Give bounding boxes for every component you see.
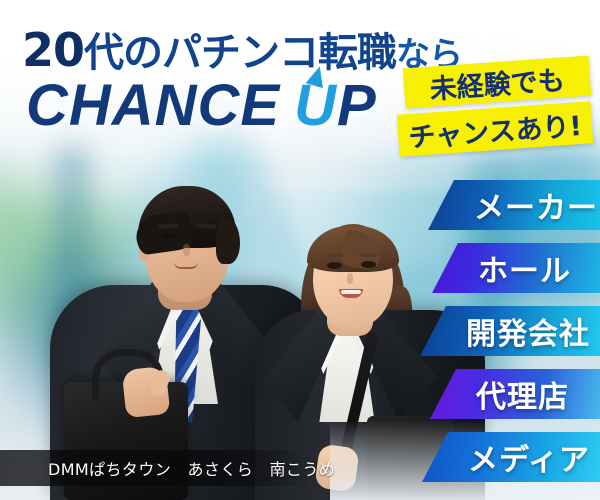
category-button-developer[interactable]: 開発会社 [420, 306, 600, 356]
category-label: メディア [468, 435, 590, 479]
category-label: 代理店 [476, 372, 569, 416]
category-label: ホール [478, 246, 571, 290]
category-label: メーカー [474, 183, 598, 227]
ad-banner: 20代のパチンコ転職なら CHANCEUP 未経験でも チャンスあり! メーカー… [0, 0, 600, 500]
credit-bar: DMMぱちタウン あさくら 南こうめ [0, 450, 312, 486]
category-button-media[interactable]: メディア [422, 432, 600, 482]
category-label: 開発会社 [466, 309, 590, 353]
category-button-maker[interactable]: メーカー [428, 180, 600, 230]
category-button-hall[interactable]: ホール [432, 243, 600, 293]
category-list: メーカー ホール 開発会社 代理店 メディア [0, 0, 600, 500]
credit-text: DMMぱちタウン あさくら 南こうめ [48, 456, 335, 480]
category-button-agency[interactable]: 代理店 [430, 369, 600, 419]
